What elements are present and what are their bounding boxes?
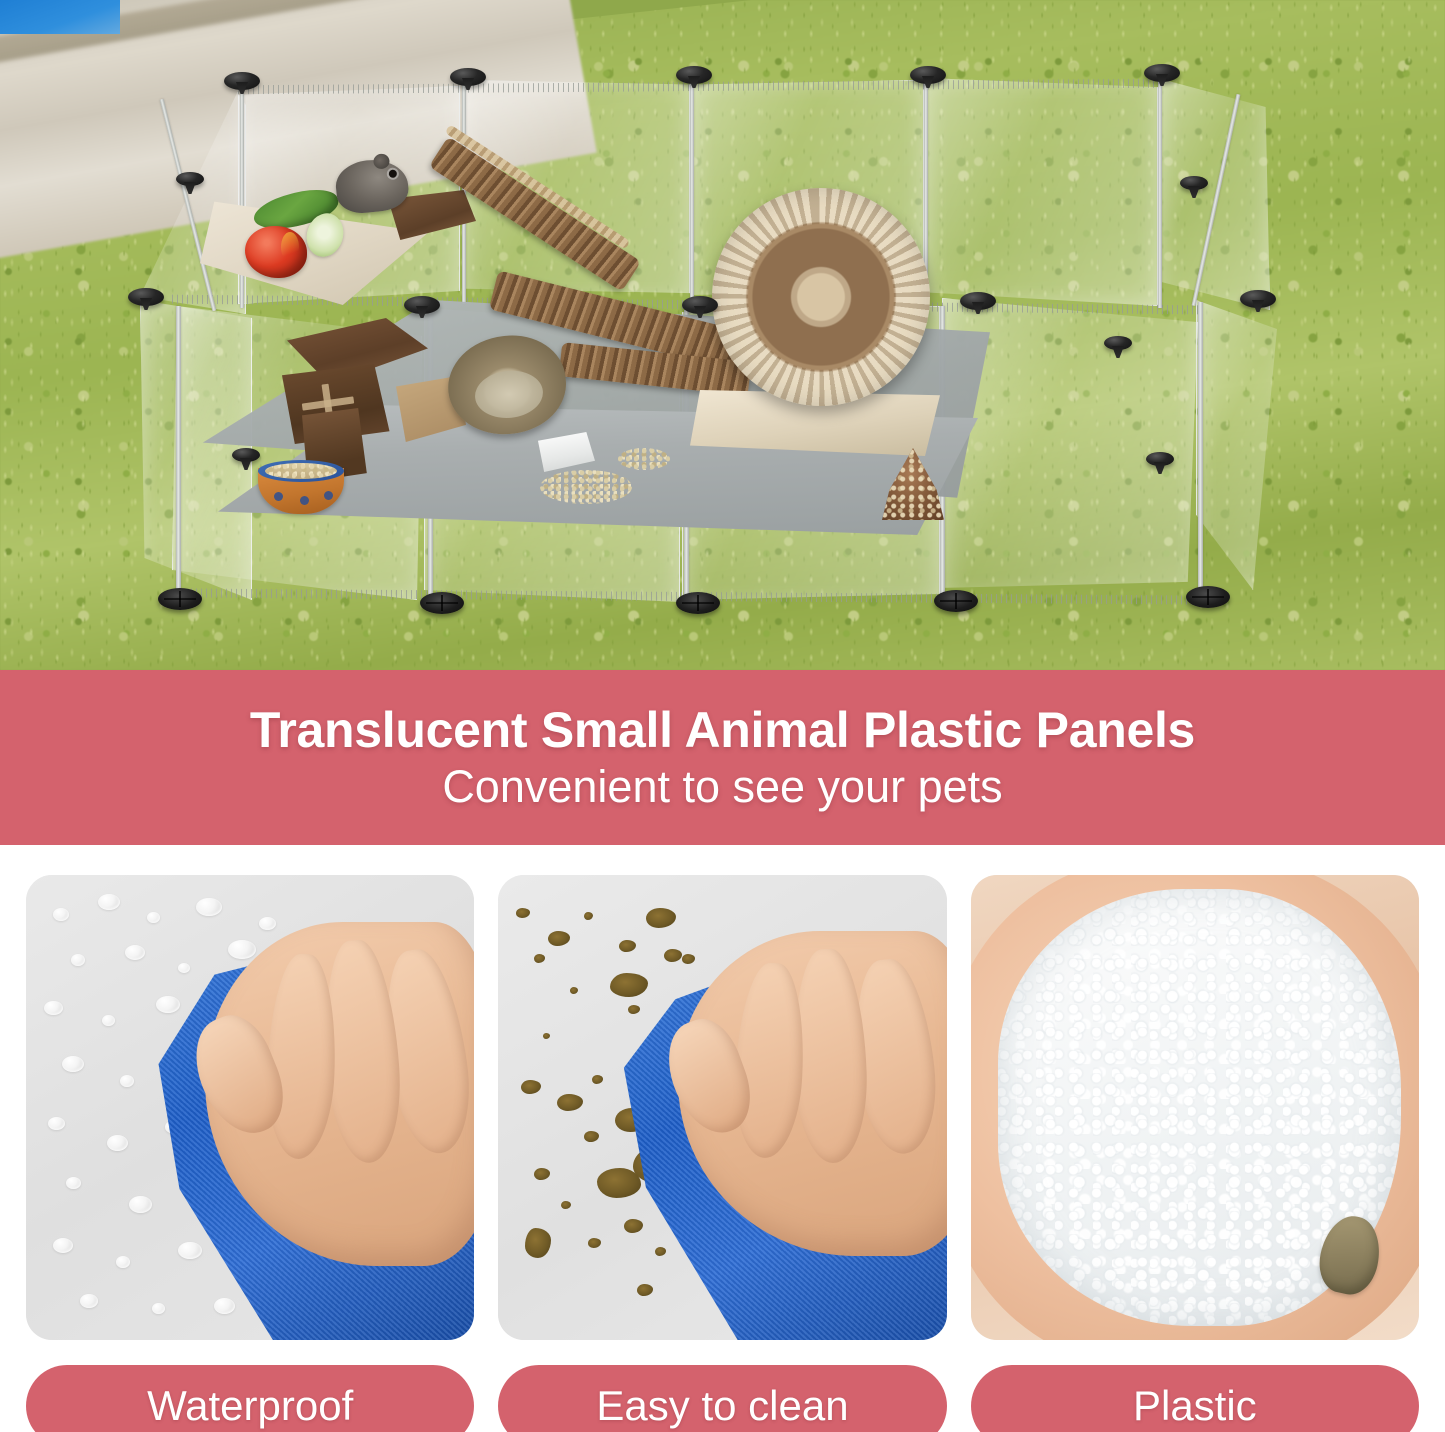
bowl-paw-print-3	[324, 491, 333, 500]
base-foot-2	[420, 592, 464, 614]
feature-photo-easy-to-clean	[498, 875, 946, 1340]
base-foot-3	[676, 592, 720, 614]
bowl-paw-print-1	[274, 492, 283, 501]
banner-title: Translucent Small Animal Plastic Panels	[250, 705, 1195, 756]
feature-section: Waterproof Easy to clean Plastic	[0, 845, 1445, 1432]
strut-back-5	[1158, 78, 1162, 308]
feature-photo-row	[26, 875, 1419, 1340]
panel-back-4	[926, 78, 1158, 306]
feature-photo-plastic	[971, 875, 1419, 1340]
product-infographic: Translucent Small Animal Plastic Panels …	[0, 0, 1445, 1432]
panel-left-upper	[140, 92, 246, 314]
connector-cap-4	[910, 66, 946, 84]
feature-pill-plastic: Plastic	[971, 1365, 1419, 1432]
base-foot-4	[934, 590, 978, 612]
feature-pill-waterproof: Waterproof	[26, 1365, 474, 1432]
hero-product-photo	[0, 0, 1445, 670]
base-foot-1	[158, 588, 202, 610]
connector-cap-mid-3	[682, 296, 718, 314]
feature-photo-waterproof	[26, 875, 474, 1340]
seed-pile-2	[618, 448, 670, 470]
headline-banner: Translucent Small Animal Plastic Panels …	[0, 670, 1445, 845]
connector-cap-mid-4	[960, 292, 996, 310]
connector-cap-mid-2	[404, 296, 440, 314]
feature-label-row: Waterproof Easy to clean Plastic	[26, 1365, 1419, 1432]
strut-back-3	[690, 80, 694, 304]
food-bowl-seeds	[265, 463, 337, 479]
connector-cap-mid-side-l	[232, 448, 260, 462]
connector-cap-mid-side-r2	[1146, 452, 1174, 466]
pet-playpen	[0, 0, 1445, 670]
feature-pill-easy-to-clean: Easy to clean	[498, 1365, 946, 1432]
banner-subtitle: Convenient to see your pets	[442, 764, 1002, 810]
food-bowl	[258, 458, 344, 514]
bowl-paw-print-2	[300, 496, 309, 505]
panel-right-lower	[1196, 300, 1288, 590]
connector-cap-mid-5	[1240, 290, 1276, 308]
connector-cap-5	[1144, 64, 1180, 82]
connector-cap-2	[450, 68, 486, 86]
connector-cap-right-mid	[1180, 176, 1208, 190]
connector-cap-1	[224, 72, 260, 90]
connector-cap-left-mid	[176, 172, 204, 186]
strut-front-5	[1198, 302, 1203, 594]
seed-pile-1	[540, 470, 632, 504]
connector-cap-mid-1	[128, 288, 164, 306]
connector-cap-mid-side-r	[1104, 336, 1132, 350]
apple	[245, 226, 307, 278]
base-foot-5	[1186, 586, 1230, 608]
strut-front-1	[176, 306, 181, 598]
connector-cap-3	[676, 66, 712, 84]
